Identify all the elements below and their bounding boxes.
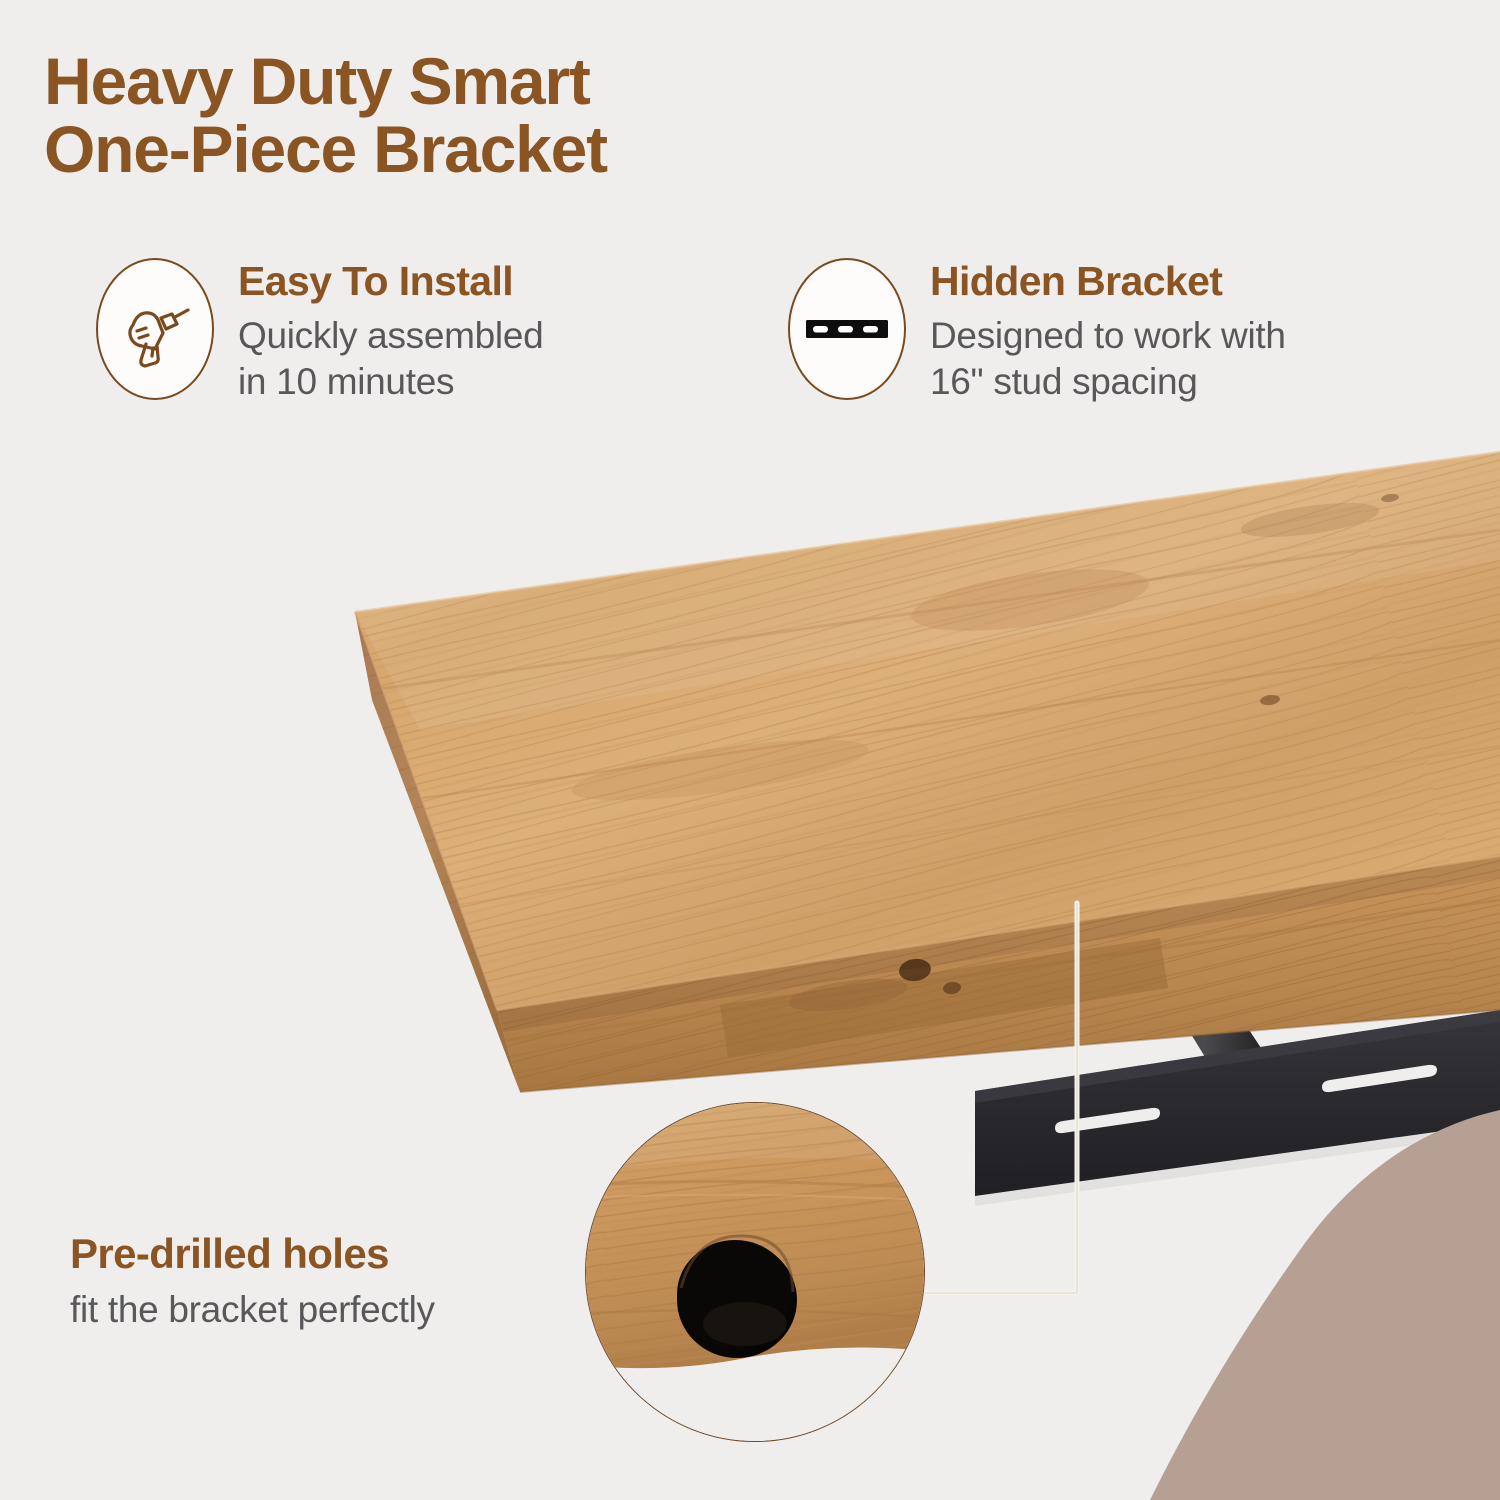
feature-heading: Easy To Install — [238, 260, 543, 303]
callout-line — [925, 903, 1077, 1293]
page-title: Heavy Duty Smart One-Piece Bracket — [44, 48, 607, 184]
caption-heading: Pre-drilled holes — [70, 1232, 590, 1276]
feature-body: Quickly assembled in 10 minutes — [238, 313, 543, 406]
feature-icon-badge — [788, 258, 906, 400]
wall-bracket — [975, 875, 1500, 1206]
wall-bracket-icon — [804, 309, 890, 349]
wood-shelf — [300, 400, 1500, 1120]
pre-drilled-hole-magnifier — [585, 1102, 925, 1442]
feature-icon-badge — [96, 258, 214, 400]
feature-heading: Hidden Bracket — [930, 260, 1286, 303]
feature-text: Easy To Install Quickly assembled in 10 … — [238, 258, 543, 406]
drill-icon — [116, 290, 194, 368]
decorative-blob — [1150, 1110, 1500, 1500]
feature-text: Hidden Bracket Designed to work with 16"… — [930, 258, 1286, 406]
infographic-canvas: Heavy Duty Smart One-Piece Bracket — [0, 0, 1500, 1500]
feature-body: Designed to work with 16" stud spacing — [930, 313, 1286, 406]
feature-easy-to-install: Easy To Install Quickly assembled in 10 … — [96, 258, 716, 406]
caption-body: fit the bracket perfectly — [70, 1288, 590, 1332]
pre-drilled-holes-caption: Pre-drilled holes fit the bracket perfec… — [70, 1232, 590, 1332]
feature-hidden-bracket: Hidden Bracket Designed to work with 16"… — [788, 258, 1438, 406]
